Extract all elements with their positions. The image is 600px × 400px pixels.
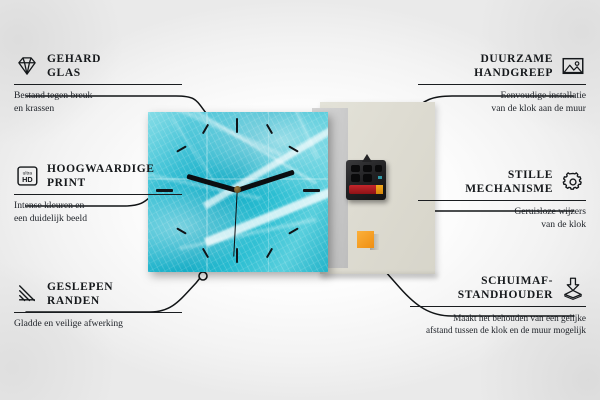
beveled-edge-icon bbox=[14, 282, 40, 306]
feature-desc-line1: Intense kleuren en bbox=[14, 200, 182, 213]
feature-title-line1: DUURZAME bbox=[474, 52, 553, 66]
feature-title-line2: GLAS bbox=[47, 66, 101, 80]
feature-title-line1: HOOGWAARDIGE bbox=[47, 162, 155, 176]
svg-text:HD: HD bbox=[22, 175, 33, 184]
feature-title-line1: GESLEPEN bbox=[47, 280, 113, 294]
clock-center-nut bbox=[234, 186, 241, 193]
feature-title-line2: PRINT bbox=[47, 176, 155, 190]
feature-title-line2: STANDHOUDER bbox=[458, 288, 553, 302]
feature-desc-line2: een duidelijk beeld bbox=[14, 213, 182, 226]
infographic-canvas: GEHARD GLAS Bestand tegen breuk en krass… bbox=[0, 0, 600, 400]
feature-desc-line2: van de klok bbox=[418, 219, 586, 232]
feature-stille-mechanisme: STILLE MECHANISME Geruisloze wijzers van… bbox=[418, 168, 586, 232]
feature-duurzame-handgreep: DUURZAME HANDGREEP Eenvoudige installati… bbox=[418, 52, 586, 116]
feature-rule bbox=[410, 306, 586, 307]
feature-rule bbox=[14, 194, 182, 195]
feature-title-line1: SCHUIMAF- bbox=[458, 274, 553, 288]
picture-frame-icon bbox=[560, 54, 586, 78]
gear-icon bbox=[560, 170, 586, 194]
feature-title-line2: RANDEN bbox=[47, 294, 113, 308]
feature-geslepen-randen: GESLEPEN RANDEN Gladde en veilige afwerk… bbox=[14, 280, 182, 331]
feature-title-line2: MECHANISME bbox=[465, 182, 553, 196]
feature-desc-line1: Geruisloze wijzers bbox=[418, 206, 586, 219]
feature-rule bbox=[418, 200, 586, 201]
feature-rule bbox=[14, 84, 182, 85]
mechanism-battery bbox=[349, 185, 383, 194]
diamond-icon bbox=[14, 54, 40, 78]
clock-tick-3 bbox=[303, 189, 320, 192]
feature-desc-line2: van de klok aan de muur bbox=[418, 103, 586, 116]
feature-desc-line2: afstand tussen de klok en de muur mogeli… bbox=[410, 324, 586, 336]
feature-rule bbox=[14, 312, 182, 313]
clock-tick-6 bbox=[236, 248, 238, 263]
foam-spacer-icon bbox=[560, 276, 586, 300]
clock-tick-12 bbox=[236, 118, 238, 133]
feature-desc-line2: en krassen bbox=[14, 103, 182, 116]
clock-mechanism bbox=[346, 160, 386, 200]
feature-title-line1: GEHARD bbox=[47, 52, 101, 66]
feature-desc-line1: Bestand tegen breuk bbox=[14, 90, 182, 103]
foam-spacer-pad bbox=[357, 231, 374, 248]
feature-rule bbox=[418, 84, 586, 85]
feature-desc-line1: Eenvoudige installatie bbox=[418, 90, 586, 103]
ultra-hd-icon: ultra HD bbox=[14, 164, 40, 188]
feature-title-line2: HANDGREEP bbox=[474, 66, 553, 80]
feature-desc-line1: Gladde en veilige afwerking bbox=[14, 318, 182, 331]
feature-title-line1: STILLE bbox=[465, 168, 553, 182]
feature-gehard-glas: GEHARD GLAS Bestand tegen breuk en krass… bbox=[14, 52, 182, 116]
feature-schuimafstandhouder: SCHUIMAF- STANDHOUDER Maakt het behouden… bbox=[410, 274, 586, 337]
feature-desc-line1: Maakt het behouden van een gelijke bbox=[410, 312, 586, 324]
feature-hoogwaardige-print: ultra HD HOOGWAARDIGE PRINT Intense kleu… bbox=[14, 162, 182, 226]
